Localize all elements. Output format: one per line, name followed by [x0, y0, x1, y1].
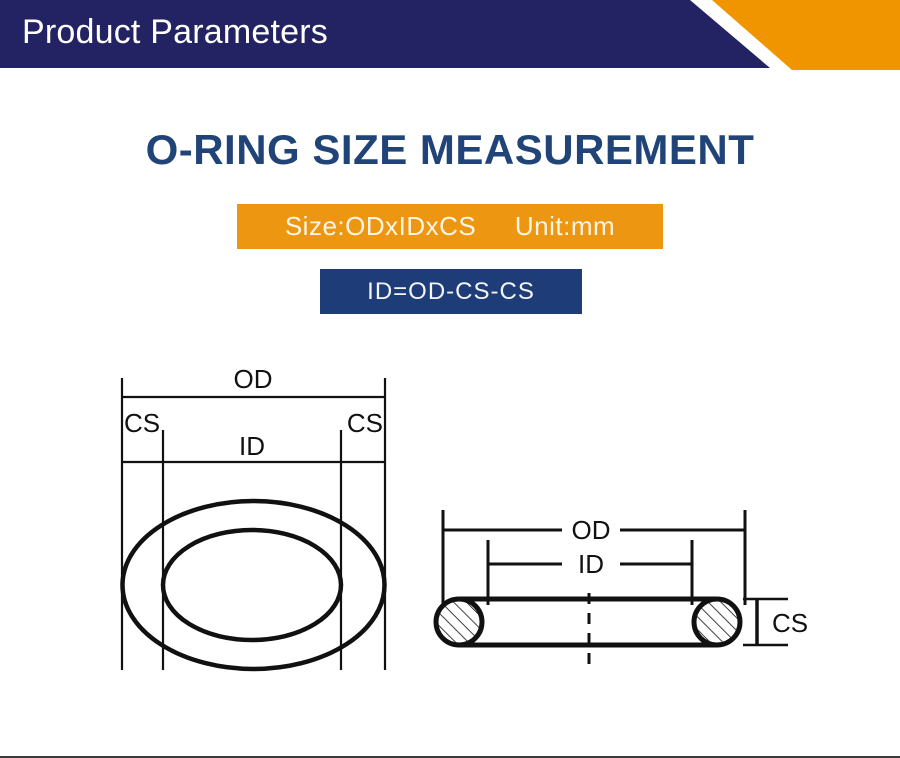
top-view-cs-right-label: CS — [347, 408, 383, 438]
cross-section-cs-label: CS — [772, 608, 808, 638]
top-view-cs-left-label: CS — [124, 408, 160, 438]
diagram-area: OD CS CS ID — [0, 340, 900, 740]
measurement-diagrams-svg: OD CS CS ID — [0, 340, 900, 740]
formula-badge: ID=OD-CS-CS — [320, 269, 582, 314]
top-view-id-label: ID — [239, 431, 265, 461]
top-view-diagram: OD CS CS ID — [122, 364, 385, 670]
page-title: O-RING SIZE MEASUREMENT — [0, 126, 900, 174]
cross-section-diagram: OD ID CS — [430, 510, 808, 670]
top-view-od-label: OD — [234, 364, 273, 394]
size-unit-badge: Size:ODxIDxCS Unit:mm — [237, 204, 663, 249]
banner-title: Product Parameters — [22, 13, 328, 52]
cross-section-id-label: ID — [578, 549, 604, 579]
o-ring-inner-ellipse — [163, 530, 341, 640]
header-banner: Product Parameters — [0, 0, 900, 72]
cross-section-od-label: OD — [572, 515, 611, 545]
